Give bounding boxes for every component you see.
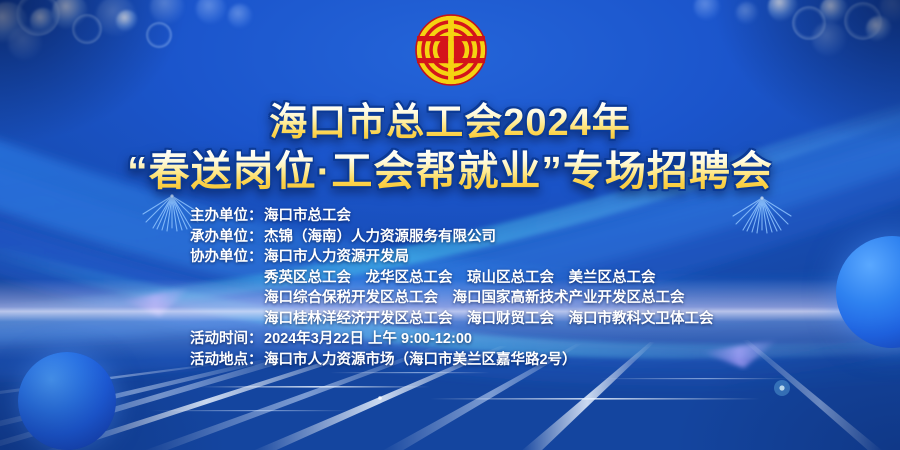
recruitment-fair-banner: 海口市总工会2024年 “春送岗位·工会帮就业”专场招聘会 主办单位： 海口市总… — [0, 0, 900, 450]
banner-content: 海口市总工会2024年 “春送岗位·工会帮就业”专场招聘会 主办单位： 海口市总… — [0, 0, 900, 450]
info-row-organizer: 主办单位： 海口市总工会 — [190, 206, 830, 227]
info-label: 协办单位： — [190, 247, 264, 268]
info-value: 杰锦（海南）人力资源服务有限公司 — [264, 227, 830, 248]
info-row-event-time: 活动时间： 2024年3月22日 上午 9:00-12:00 — [190, 329, 830, 350]
info-row-event-location: 活动地点： 海口市人力资源市场（海口市美兰区嘉华路2号） — [190, 350, 830, 371]
info-row-coorganizer-cont-2: 协办单位： 海口综合保税开发区总工会 海口国家高新技术产业开发区总工会 — [190, 288, 830, 309]
info-value: 2024年3月22日 上午 9:00-12:00 — [264, 329, 830, 350]
info-row-coorganizer-cont-1: 协办单位： 秀英区总工会 龙华区总工会 琼山区总工会 美兰区总工会 — [190, 268, 830, 289]
info-row-coorganizer-cont-3: 协办单位： 海口桂林洋经济开发区总工会 海口财贸工会 海口市教科文卫体工会 — [190, 309, 830, 330]
info-label: 承办单位： — [190, 227, 264, 248]
info-label: 活动地点： — [190, 350, 264, 371]
title-line-1: 海口市总工会2024年 — [0, 102, 900, 145]
info-label: 活动时间： — [190, 329, 264, 350]
info-row-coorganizer: 协办单位： 海口市人力资源开发局 — [190, 247, 830, 268]
info-block: 主办单位： 海口市总工会 承办单位： 杰锦（海南）人力资源服务有限公司 协办单位… — [190, 206, 830, 370]
info-value: 海口市总工会 — [264, 206, 830, 227]
info-value: 海口市人力资源开发局 — [264, 247, 830, 268]
info-value: 海口桂林洋经济开发区总工会 海口财贸工会 海口市教科文卫体工会 — [264, 309, 830, 330]
info-row-undertaker: 承办单位： 杰锦（海南）人力资源服务有限公司 — [190, 227, 830, 248]
info-value: 海口综合保税开发区总工会 海口国家高新技术产业开发区总工会 — [264, 288, 830, 309]
info-label: 主办单位： — [190, 206, 264, 227]
title-block: 海口市总工会2024年 “春送岗位·工会帮就业”专场招聘会 — [0, 102, 900, 194]
title-line-2: “春送岗位·工会帮就业”专场招聘会 — [0, 149, 900, 195]
info-value: 海口市人力资源市场（海口市美兰区嘉华路2号） — [264, 350, 830, 371]
info-value: 秀英区总工会 龙华区总工会 琼山区总工会 美兰区总工会 — [264, 268, 830, 289]
